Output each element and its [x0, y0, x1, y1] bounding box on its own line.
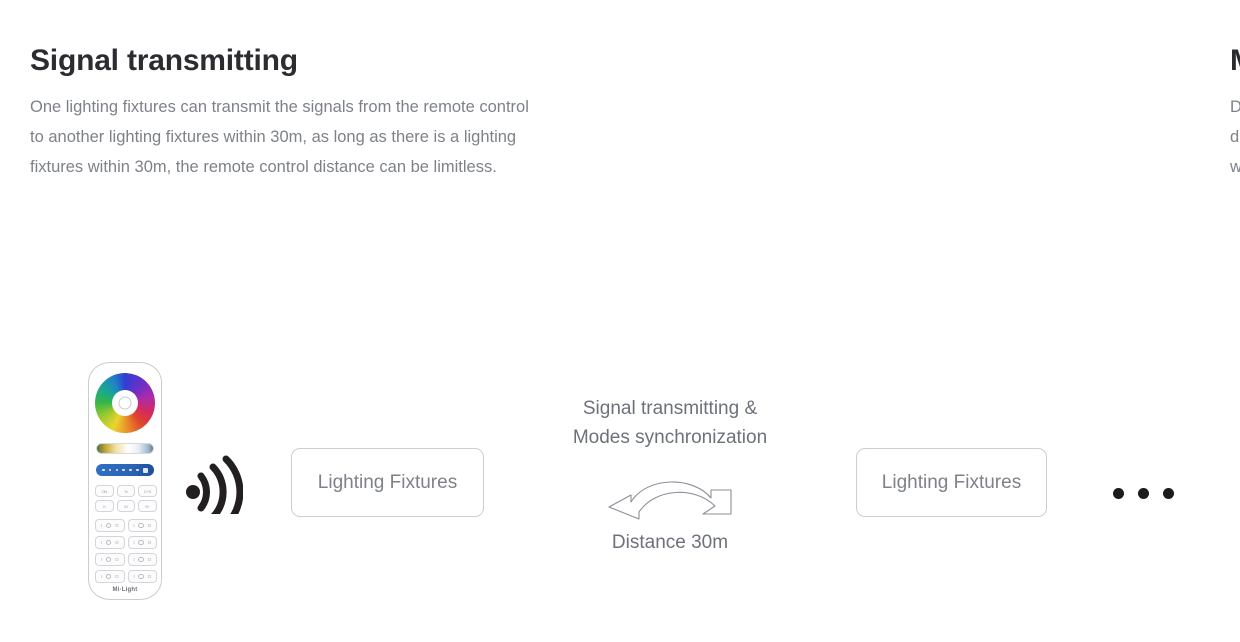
- feature-columns: Signal transmitting One lighting fixture…: [0, 0, 1240, 182]
- ellipsis-indicator: [1113, 488, 1174, 499]
- center-annotation: Signal transmitting & Modes synchronizat…: [530, 394, 810, 554]
- remote-key: C+S: [138, 485, 157, 497]
- zone-key-off-label: O: [115, 574, 119, 579]
- zone-key-off-label: O: [148, 557, 152, 562]
- remote-zone-key: I O: [95, 553, 125, 566]
- page-title: Signal transmitting: [30, 44, 533, 79]
- zone-key-on-label: I: [101, 540, 102, 545]
- mode-dot-active: [143, 468, 148, 473]
- brand-logo: Mi·Light: [89, 587, 161, 593]
- zone-key-off-label: O: [148, 523, 152, 528]
- remote-control-device: ON % C+S K M S+ I O I O I: [88, 362, 162, 600]
- feature-description: One lighting fixtures can transmit the s…: [30, 92, 533, 182]
- mode-dot: [122, 469, 125, 472]
- remote-key: %: [117, 485, 136, 497]
- remote-zone-keypad: I O I O I O I O: [95, 519, 157, 583]
- mode-dot: [109, 469, 112, 472]
- zone-key-on-label: I: [101, 574, 102, 579]
- color-wheel-icon: [95, 373, 155, 433]
- feature-column-modes-synchronization: Modes synchronization Different lighting…: [573, 0, 1240, 182]
- zone-key-on-label: I: [101, 557, 102, 562]
- remote-key: M: [117, 500, 136, 512]
- zone-key-off-label: O: [115, 557, 119, 562]
- remote-zone-key: I O: [128, 553, 158, 566]
- feature-description: Different lighting fixtures can work syn…: [1230, 92, 1240, 182]
- zone-key-off-label: O: [148, 540, 152, 545]
- feature-column-signal-transmitting: Signal transmitting One lighting fixture…: [0, 0, 573, 182]
- zone-key-dot-icon: [138, 557, 144, 563]
- zone-key-on-label: I: [133, 523, 134, 528]
- zone-key-dot-icon: [138, 523, 144, 529]
- remote-zone-key: I O: [128, 570, 158, 583]
- zone-key-off-label: O: [148, 574, 152, 579]
- zone-key-on-label: I: [133, 574, 134, 579]
- mode-dot: [102, 469, 105, 472]
- signal-waves-icon: [183, 452, 243, 514]
- ellipsis-dot: [1138, 488, 1149, 499]
- remote-key: ON: [95, 485, 114, 497]
- ellipsis-dot: [1163, 488, 1174, 499]
- zone-key-dot-icon: [138, 540, 144, 546]
- zone-key-dot-icon: [138, 574, 144, 580]
- mode-indicator-bar: [96, 464, 154, 476]
- remote-zone-key: I O: [128, 536, 158, 549]
- remote-top-keypad: ON % C+S K M S+: [95, 485, 157, 512]
- center-label-line-1: Signal transmitting &: [530, 394, 810, 423]
- lighting-fixture-box-left: Lighting Fixtures: [291, 448, 484, 517]
- bidirectional-curved-arrow-icon: [595, 462, 745, 524]
- mode-dot: [116, 469, 119, 472]
- section-title: Modes synchronization: [1230, 44, 1240, 79]
- distance-label: Distance 30m: [530, 532, 810, 554]
- color-temperature-slider: [96, 443, 154, 454]
- mode-dot: [129, 469, 132, 472]
- remote-zone-key: I O: [95, 536, 125, 549]
- remote-zone-key: I O: [128, 519, 158, 532]
- remote-key: K: [95, 500, 114, 512]
- remote-key: S+: [138, 500, 157, 512]
- remote-zone-key: I O: [95, 519, 125, 532]
- zone-key-on-label: I: [101, 523, 102, 528]
- zone-key-dot-icon: [106, 540, 112, 546]
- zone-key-on-label: I: [133, 540, 134, 545]
- color-wheel-knob: [119, 397, 132, 410]
- zone-key-off-label: O: [115, 540, 119, 545]
- zone-key-dot-icon: [106, 574, 112, 580]
- mode-dot: [136, 469, 139, 472]
- zone-key-dot-icon: [106, 557, 112, 563]
- zone-key-off-label: O: [115, 523, 119, 528]
- zone-key-on-label: I: [133, 557, 134, 562]
- lighting-fixture-box-right: Lighting Fixtures: [856, 448, 1047, 517]
- center-label-line-2: Modes synchronization: [530, 423, 810, 452]
- ellipsis-dot: [1113, 488, 1124, 499]
- zone-key-dot-icon: [106, 523, 112, 529]
- remote-zone-key: I O: [95, 570, 125, 583]
